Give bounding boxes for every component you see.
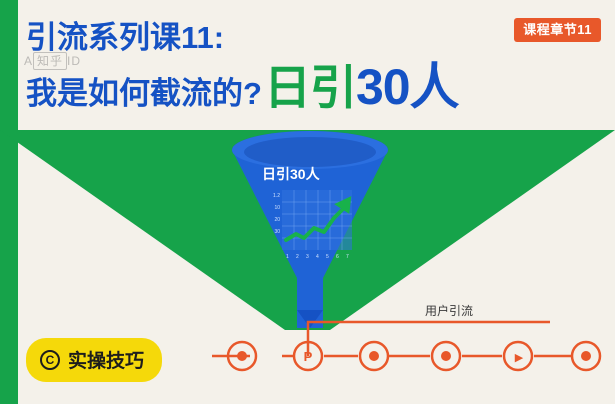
skill-pill-label: 实操技巧 xyxy=(68,346,144,373)
skill-pill: C 实操技巧 xyxy=(26,338,162,382)
watermark-prefix: A xyxy=(24,54,33,68)
poster-canvas: 课程章节11 引流系列课11: 我是如何截流的? 日引 30人 A知乎ID 日引… xyxy=(0,0,615,404)
flow-node-glyph-play: ▶ xyxy=(515,352,524,364)
chart-ytick-3: 30 xyxy=(274,229,280,235)
flow-node xyxy=(360,342,388,370)
funnel-label: 日引30人 xyxy=(262,164,320,184)
chart-ytick-0: 1.2 xyxy=(273,193,280,199)
headline-emphasis-blue: 30人 xyxy=(356,62,459,112)
chart-xtick-4: 5 xyxy=(326,254,329,260)
chart-ytick-2: 20 xyxy=(274,217,280,223)
watermark: A知乎ID xyxy=(24,52,81,69)
chart-xtick-2: 3 xyxy=(306,254,309,260)
chart-xtick-6: 7 xyxy=(346,254,349,260)
chart-ytick-1: 10 xyxy=(274,205,280,211)
funnel-inner-chart: 1.2 10 20 30 1 2 3 4 5 6 7 xyxy=(268,188,354,266)
chart-xtick-3: 4 xyxy=(316,254,319,260)
headline-line-2: 我是如何截流的? xyxy=(26,76,262,112)
chart-xtick-5: 6 xyxy=(336,254,339,260)
flow-diagram: P ▶ xyxy=(190,300,610,390)
headline-line-1: 引流系列课11: xyxy=(26,20,586,56)
watermark-suffix: ID xyxy=(67,54,81,68)
copyright-icon: C xyxy=(40,350,60,370)
flow-node-glyph-pin: P xyxy=(304,349,313,364)
watermark-boxed: 知乎 xyxy=(33,52,67,70)
flow-node xyxy=(572,342,600,370)
headline-line-2-wrap: 我是如何截流的? 日引 30人 xyxy=(26,62,586,112)
flow-label: 用户引流 xyxy=(425,302,473,319)
flow-node: ▶ xyxy=(504,342,532,370)
headline-emphasis-green: 日引 xyxy=(264,64,356,111)
chart-xtick-0: 1 xyxy=(286,254,289,260)
flow-node xyxy=(432,342,460,370)
chart-xtick-1: 2 xyxy=(296,254,299,260)
headline: 引流系列课11: 我是如何截流的? 日引 30人 xyxy=(26,20,586,112)
